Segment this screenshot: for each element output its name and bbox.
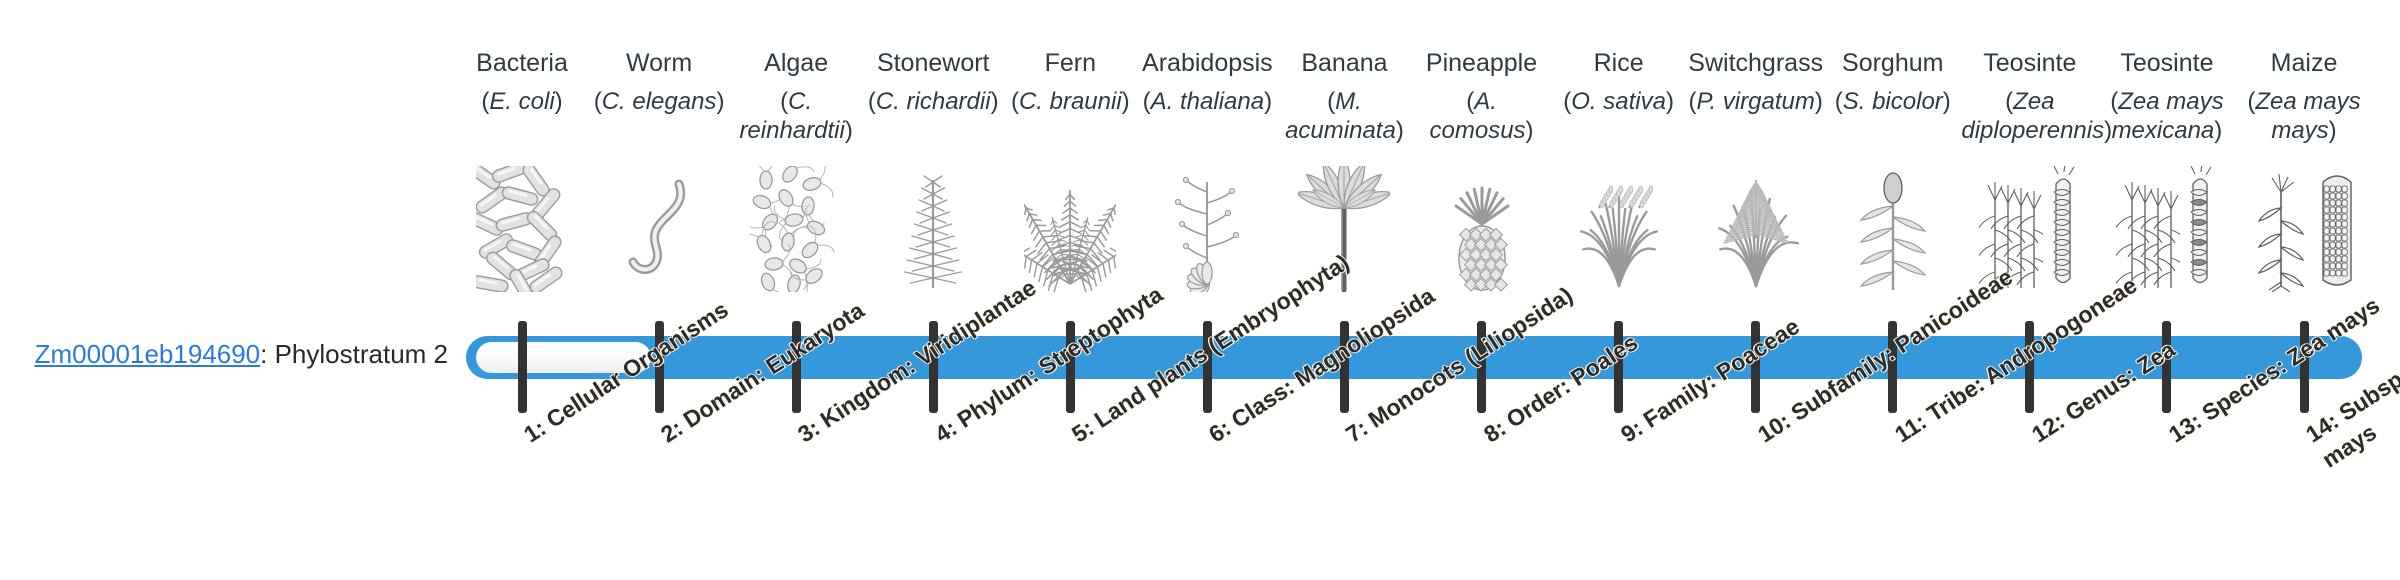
stratum-number: 8: [1479, 415, 1510, 448]
species-scientific-name-text: C. elegans [602, 88, 717, 115]
species-scientific-name: (A. comosus) [1413, 87, 1550, 145]
arabidopsis-illustration [1139, 166, 1276, 292]
sorghum-illustration [1824, 166, 1961, 292]
algae-illustration [728, 166, 865, 292]
species-common-name: Arabidopsis [1139, 48, 1276, 78]
species-scientific-name: (Zea mays mexicana) [2098, 87, 2235, 145]
species-common-name: Switchgrass [1687, 48, 1824, 78]
gene-phylostratum-value: Phylostratum 2 [275, 339, 448, 369]
species-column-header: Rice(O. sativa) [1550, 48, 1687, 116]
species-common-name: Sorghum [1824, 48, 1961, 78]
stratum-number: 13: [2164, 408, 2206, 448]
species-scientific-name-text: A. comosus [1430, 88, 1526, 144]
species-scientific-name-text: O. sativa [1571, 88, 1666, 115]
species-scientific-name-text: Zea mays mexicana [2112, 88, 2224, 144]
rice-illustration [1550, 166, 1687, 292]
stratum-number: 11: [1890, 408, 1931, 447]
species-common-name: Banana [1276, 48, 1413, 78]
stratum-number: 1: [519, 415, 550, 448]
bacteria-illustration [454, 166, 591, 292]
stratum-tick [1614, 321, 1623, 413]
species-scientific-name-text: P. virgatum [1697, 88, 1815, 115]
stratum-tick [2300, 321, 2309, 413]
stratum-number: 10: [1753, 408, 1795, 448]
species-scientific-name: (C. braunii) [1002, 87, 1139, 116]
species-scientific-name-text: S. bicolor [1843, 88, 1943, 115]
stratum-tick [929, 321, 938, 413]
stratum-tick [518, 321, 527, 413]
stratum-tick [2025, 321, 2034, 413]
banana-illustration [1276, 166, 1413, 292]
species-common-name: Teosinte [1961, 48, 2098, 78]
species-common-name: Algae [728, 48, 865, 78]
species-scientific-name-text: M. acuminata [1285, 88, 1396, 144]
switchgrass-illustration [1687, 166, 1824, 292]
stonewort-illustration [865, 166, 1002, 292]
stratum-tick [655, 321, 664, 413]
species-common-name: Rice [1550, 48, 1687, 78]
species-column-header: Arabidopsis(A. thaliana) [1139, 48, 1276, 116]
species-scientific-name: (Zea mays mays) [2236, 87, 2373, 145]
species-scientific-name: (C. richardii) [865, 87, 1002, 116]
stratum-tick [1888, 321, 1897, 413]
stratum-number: 5: [1067, 415, 1098, 448]
teosinte-diploperennis-illustration [1961, 166, 2098, 292]
stratum-tick [792, 321, 801, 413]
species-scientific-name-text: Zea diploperennis [1961, 88, 2104, 144]
stratum-number: 6: [1204, 415, 1235, 448]
stratum-tick [2162, 321, 2171, 413]
species-scientific-name-text: E. coli [489, 88, 554, 115]
species-column-header: Algae(C. reinhardtii) [728, 48, 865, 145]
stratum-number: 4: [930, 415, 961, 448]
stratum-tick [1751, 321, 1760, 413]
species-scientific-name: (O. sativa) [1550, 87, 1687, 116]
stratum-tick [1340, 321, 1349, 413]
progress-bar-unfilled-segment [476, 342, 651, 373]
gene-id-link[interactable]: Zm00001eb194690 [35, 339, 261, 369]
species-common-name: Stonewort [865, 48, 1002, 78]
species-scientific-name: (A. thaliana) [1139, 87, 1276, 116]
species-scientific-name: (C. elegans) [591, 87, 728, 116]
species-common-name: Maize [2236, 48, 2373, 78]
species-scientific-name: (S. bicolor) [1824, 87, 1961, 116]
species-common-name: Bacteria [454, 48, 591, 78]
species-common-name: Worm [591, 48, 728, 78]
species-scientific-name: (Zea diploperennis) [1961, 87, 2098, 145]
species-column-header: Sorghum(S. bicolor) [1824, 48, 1961, 116]
species-column-header: Teosinte(Zea diploperennis) [1961, 48, 2098, 145]
maize-illustration [2236, 166, 2373, 292]
species-common-name: Pineapple [1413, 48, 1550, 78]
species-common-name: Fern [1002, 48, 1139, 78]
stratum-tick [1066, 321, 1075, 413]
species-column-header: Maize(Zea mays mays) [2236, 48, 2373, 145]
species-column-header: Fern(C. braunii) [1002, 48, 1139, 116]
species-column-header: Teosinte(Zea mays mexicana) [2098, 48, 2235, 145]
species-scientific-name-text: Zea mays mays [2255, 88, 2360, 144]
pineapple-illustration [1413, 166, 1550, 292]
phylostratum-chart: Zm00001eb194690: Phylostratum 2 Bacteria… [0, 0, 2400, 580]
species-column-header: Worm(C. elegans) [591, 48, 728, 116]
species-scientific-name: (P. virgatum) [1687, 87, 1824, 116]
species-column-header: Pineapple(A. comosus) [1413, 48, 1550, 145]
species-common-name: Teosinte [2098, 48, 2235, 78]
stratum-number: 7: [1342, 415, 1373, 448]
species-scientific-name: (M. acuminata) [1276, 87, 1413, 145]
species-scientific-name-text: C. richardii [876, 88, 991, 115]
species-column-header: Banana(M. acuminata) [1276, 48, 1413, 145]
species-scientific-name-text: C. braunii [1019, 88, 1122, 115]
phylostratum-progress-bar[interactable] [466, 336, 2362, 379]
species-scientific-name: (C. reinhardtii) [728, 87, 865, 145]
species-scientific-name: (E. coli) [454, 87, 591, 116]
species-scientific-name-text: A. thaliana [1151, 88, 1264, 115]
species-column-header: Bacteria(E. coli) [454, 48, 591, 116]
species-column-header: Switchgrass(P. virgatum) [1687, 48, 1824, 116]
teosinte-mexicana-illustration [2098, 166, 2235, 292]
stratum-number: 12: [2027, 408, 2069, 448]
worm-illustration [591, 166, 728, 292]
stratum-number: 14: [2301, 408, 2343, 448]
stratum-number: 2: [656, 415, 687, 448]
fern-illustration [1002, 166, 1139, 292]
gene-phylostratum-separator: : [260, 339, 274, 369]
stratum-number: 9: [1616, 415, 1647, 448]
stratum-tick [1477, 321, 1486, 413]
gene-phylostratum-label: Zm00001eb194690: Phylostratum 2 [0, 338, 448, 370]
species-column-header: Stonewort(C. richardii) [865, 48, 1002, 116]
stratum-tick [1203, 321, 1212, 413]
stratum-number: 3: [793, 415, 824, 448]
species-scientific-name-text: C. reinhardtii [739, 88, 844, 144]
